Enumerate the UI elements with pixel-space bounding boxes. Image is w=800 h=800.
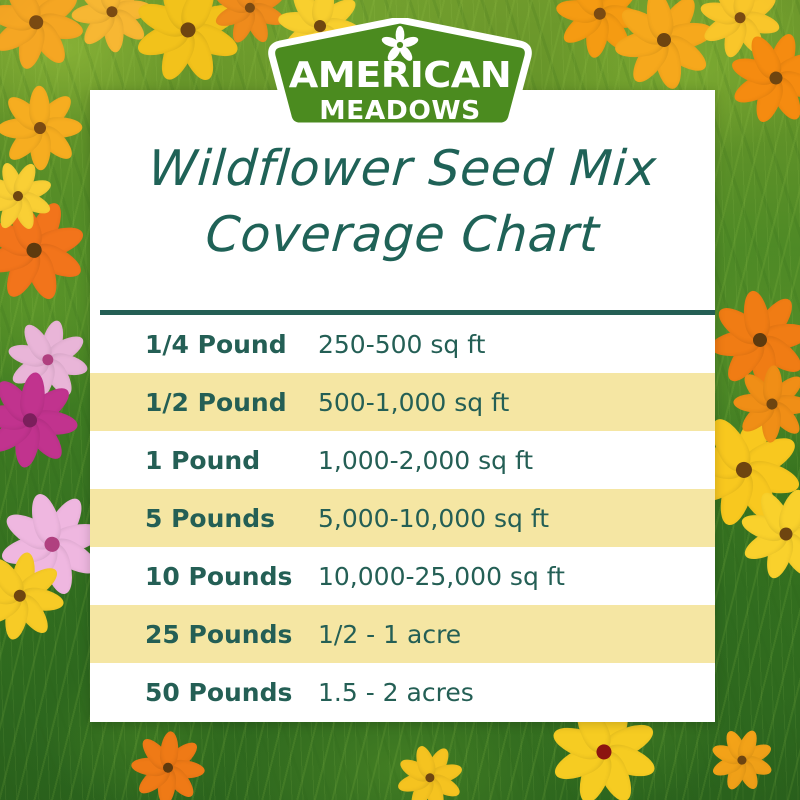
american-meadows-logo[interactable]: AMERICAN MEADOWS (268, 18, 532, 130)
cell-coverage: 10,000-25,000 sq ft (318, 562, 715, 591)
coverage-table: 1/4 Pound250-500 sq ft1/2 Pound500-1,000… (90, 315, 715, 721)
cell-coverage: 1.5 - 2 acres (318, 678, 715, 707)
cell-coverage: 5,000-10,000 sq ft (318, 504, 715, 533)
cell-amount: 5 Pounds (90, 504, 318, 533)
table-row: 25 Pounds1/2 - 1 acre (90, 605, 715, 663)
coverage-chart-infographic: Wildflower Seed Mix Coverage Chart 1/4 P… (0, 0, 800, 800)
cell-amount: 1 Pound (90, 446, 318, 475)
cell-amount: 50 Pounds (90, 678, 318, 707)
cell-coverage: 1,000-2,000 sq ft (318, 446, 715, 475)
cell-amount: 1/4 Pound (90, 330, 318, 359)
table-row: 5 Pounds5,000-10,000 sq ft (90, 489, 715, 547)
cell-amount: 25 Pounds (90, 620, 318, 649)
table-row: 1 Pound1,000-2,000 sq ft (90, 431, 715, 489)
table-row: 1/4 Pound250-500 sq ft (90, 315, 715, 373)
table-row: 10 Pounds10,000-25,000 sq ft (90, 547, 715, 605)
table-row: 1/2 Pound500-1,000 sq ft (90, 373, 715, 431)
table-row: 50 Pounds1.5 - 2 acres (90, 663, 715, 721)
cell-amount: 10 Pounds (90, 562, 318, 591)
content-panel: Wildflower Seed Mix Coverage Chart 1/4 P… (90, 90, 715, 722)
cell-coverage: 500-1,000 sq ft (318, 388, 715, 417)
cell-coverage: 1/2 - 1 acre (318, 620, 715, 649)
cell-amount: 1/2 Pound (90, 388, 318, 417)
cell-coverage: 250-500 sq ft (318, 330, 715, 359)
page-title-line-2: Coverage Chart (88, 202, 718, 268)
page-title-line-1: Wildflower Seed Mix (88, 136, 718, 202)
page-title: Wildflower Seed Mix Coverage Chart (90, 136, 715, 268)
